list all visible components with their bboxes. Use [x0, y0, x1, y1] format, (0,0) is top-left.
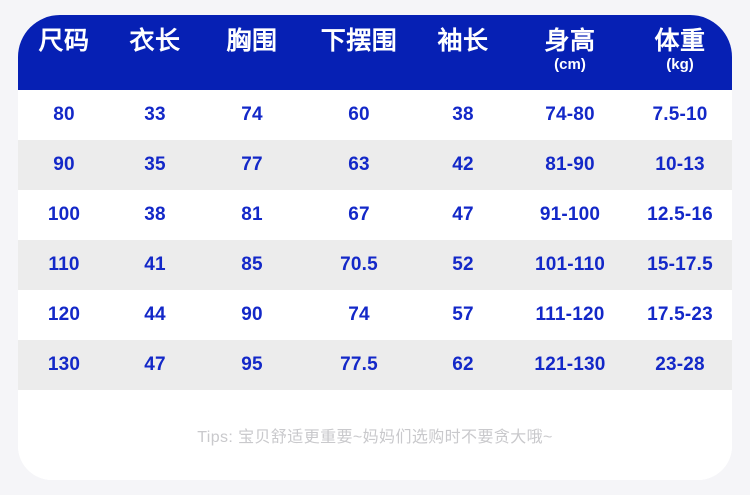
cell-size: 110	[18, 254, 110, 276]
cell-height: 121-130	[512, 354, 628, 376]
cell-weight: 15-17.5	[628, 254, 732, 276]
table-row: 130 47 95 77.5 62 121-130 23-28	[18, 340, 732, 390]
cell-garment-length: 41	[110, 254, 200, 276]
column-header-height: 身高 (cm)	[512, 28, 628, 75]
cell-bust: 74	[200, 104, 304, 126]
column-header-label: 身高	[544, 28, 595, 55]
cell-bust: 90	[200, 304, 304, 326]
cell-garment-length: 38	[110, 204, 200, 226]
column-header-label: 体重	[654, 28, 705, 55]
cell-weight: 23-28	[628, 354, 732, 376]
column-header-unit: (kg)	[666, 56, 694, 75]
column-header-unit: (cm)	[554, 56, 586, 75]
cell-sleeve-length: 52	[414, 254, 512, 276]
cell-bust: 77	[200, 154, 304, 176]
column-header-hem: 下摆围	[304, 28, 414, 55]
cell-height: 111-120	[512, 304, 628, 326]
cell-garment-length: 47	[110, 354, 200, 376]
cell-garment-length: 35	[110, 154, 200, 176]
column-header-label: 胸围	[226, 28, 277, 55]
column-header-bust: 胸围	[200, 28, 304, 55]
column-header-size: 尺码	[18, 28, 110, 55]
column-header-garment-length: 衣长	[110, 28, 200, 55]
cell-height: 101-110	[512, 254, 628, 276]
cell-sleeve-length: 42	[414, 154, 512, 176]
cell-hem: 70.5	[304, 254, 414, 276]
tips-text: Tips: 宝贝舒适更重要~妈妈们选购时不要贪大哦~	[197, 423, 553, 447]
cell-height: 91-100	[512, 204, 628, 226]
column-header-weight: 体重 (kg)	[628, 28, 732, 75]
cell-garment-length: 33	[110, 104, 200, 126]
cell-size: 80	[18, 104, 110, 126]
cell-bust: 95	[200, 354, 304, 376]
cell-weight: 7.5-10	[628, 104, 732, 126]
cell-weight: 17.5-23	[628, 304, 732, 326]
table-row: 100 38 81 67 47 91-100 12.5-16	[18, 190, 732, 240]
cell-height: 74-80	[512, 104, 628, 126]
cell-hem: 63	[304, 154, 414, 176]
column-header-label: 袖长	[437, 28, 488, 55]
table-row: 80 33 74 60 38 74-80 7.5-10	[18, 90, 732, 140]
cell-hem: 67	[304, 204, 414, 226]
cell-hem: 60	[304, 104, 414, 126]
cell-sleeve-length: 38	[414, 104, 512, 126]
cell-sleeve-length: 47	[414, 204, 512, 226]
cell-bust: 85	[200, 254, 304, 276]
table-row: 120 44 90 74 57 111-120 17.5-23	[18, 290, 732, 340]
cell-weight: 10-13	[628, 154, 732, 176]
cell-size: 120	[18, 304, 110, 326]
table-row: 90 35 77 63 42 81-90 10-13	[18, 140, 732, 190]
cell-size: 90	[18, 154, 110, 176]
column-header-sleeve-length: 袖长	[414, 28, 512, 55]
column-header-label: 尺码	[38, 28, 89, 55]
cell-height: 81-90	[512, 154, 628, 176]
cell-size: 130	[18, 354, 110, 376]
cell-bust: 81	[200, 204, 304, 226]
cell-sleeve-length: 62	[414, 354, 512, 376]
cell-hem: 74	[304, 304, 414, 326]
size-chart-card: 尺码 衣长 胸围 下摆围 袖长 身高 (cm) 体重 (kg) 80 33 74…	[18, 15, 732, 480]
column-header-label: 下摆围	[321, 28, 398, 55]
cell-sleeve-length: 57	[414, 304, 512, 326]
footer-tips-area: Tips: 宝贝舒适更重要~妈妈们选购时不要贪大哦~	[18, 390, 732, 480]
cell-garment-length: 44	[110, 304, 200, 326]
column-header-label: 衣长	[129, 28, 180, 55]
cell-weight: 12.5-16	[628, 204, 732, 226]
cell-hem: 77.5	[304, 354, 414, 376]
table-body: 80 33 74 60 38 74-80 7.5-10 90 35 77 63 …	[18, 90, 732, 390]
table-row: 110 41 85 70.5 52 101-110 15-17.5	[18, 240, 732, 290]
cell-size: 100	[18, 204, 110, 226]
table-header-row: 尺码 衣长 胸围 下摆围 袖长 身高 (cm) 体重 (kg)	[18, 15, 732, 90]
